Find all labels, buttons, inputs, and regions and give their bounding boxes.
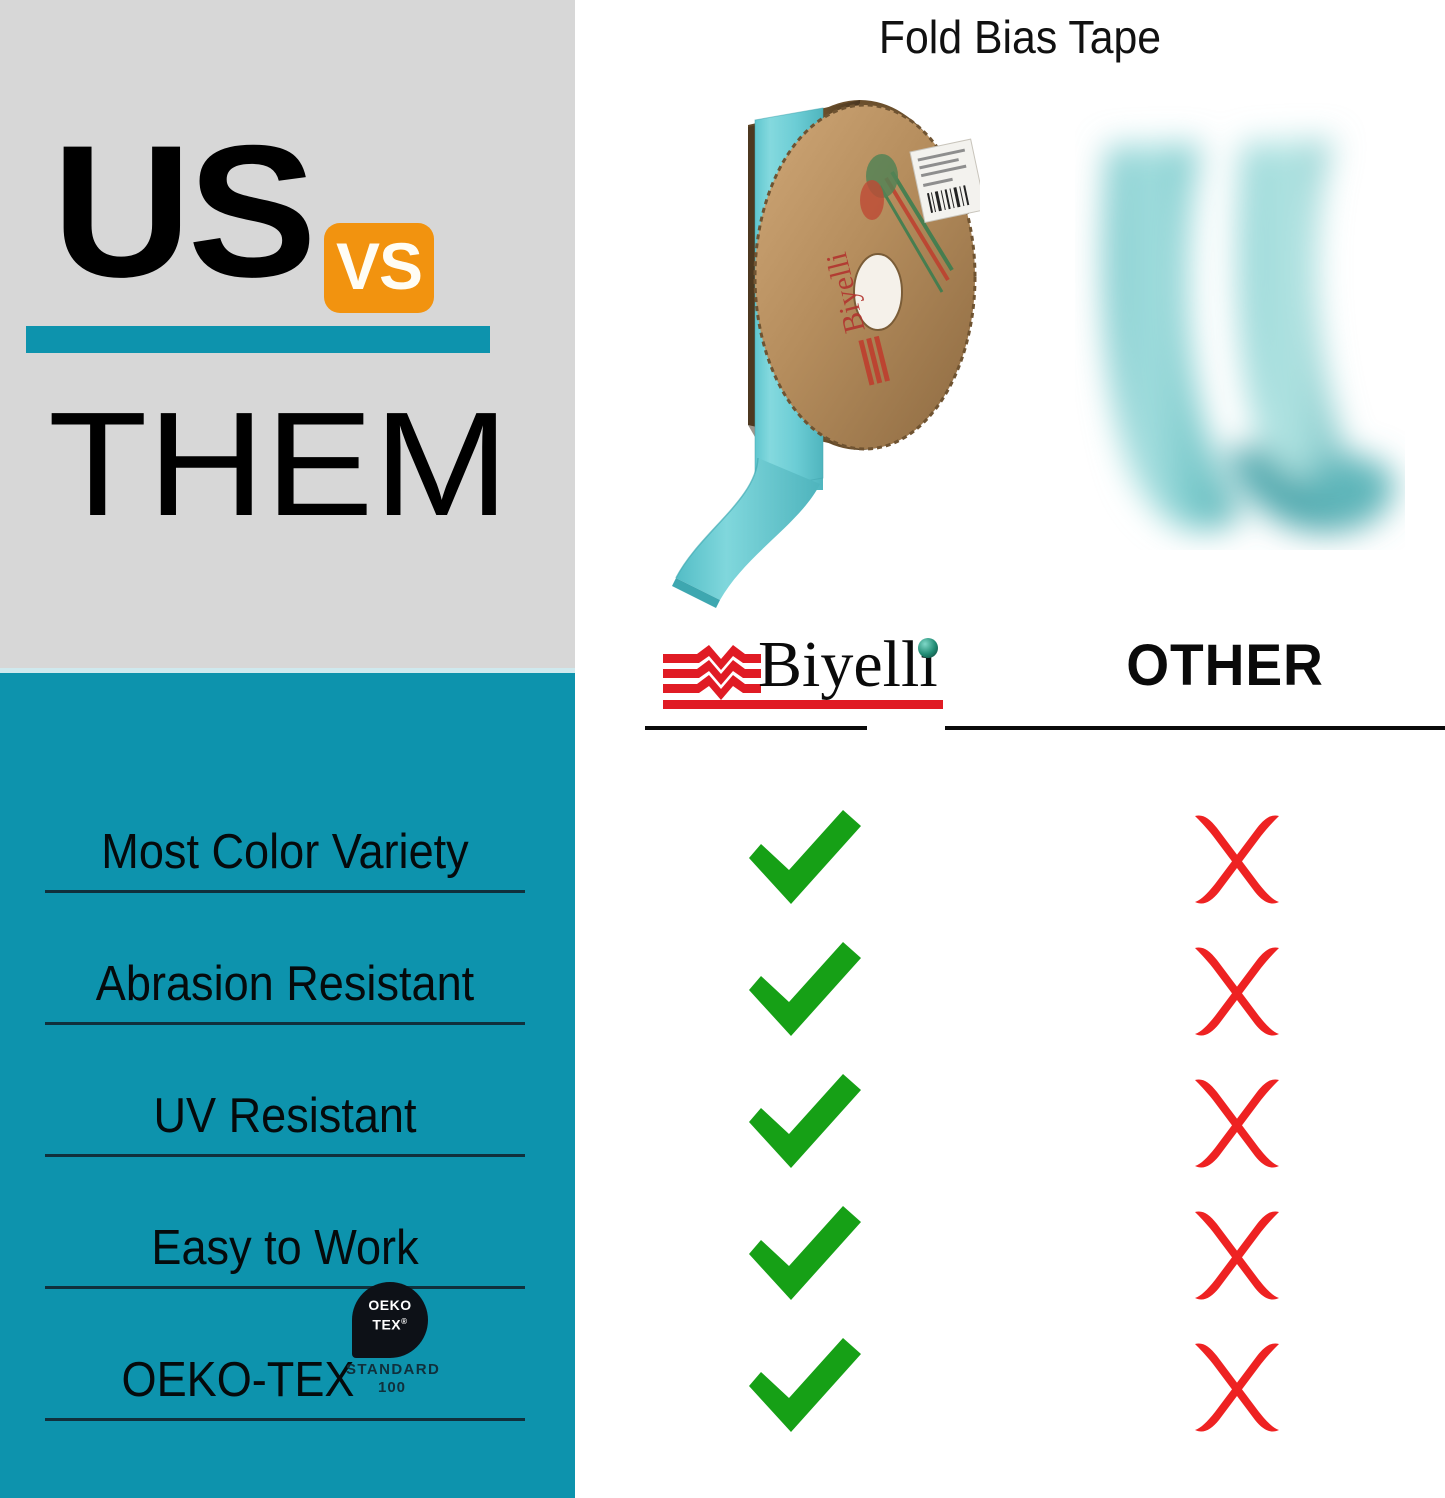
- oeko-badge-line2: TEX®: [352, 1314, 428, 1333]
- red-cross-icon: [1187, 944, 1287, 1038]
- feature-divider: [45, 1022, 525, 1025]
- red-cross-icon: [1187, 1340, 1287, 1434]
- green-check-icon: [745, 1336, 865, 1436]
- us-heading: US: [52, 122, 313, 300]
- biyelli-wordmark: Biyelli: [758, 632, 938, 698]
- teal-bias-tape-spool-image: Biyelli: [660, 80, 980, 610]
- feature-divider: [45, 1154, 525, 1157]
- feature-divider: [45, 1286, 525, 1289]
- feature-row: UV Resistant: [0, 1064, 575, 1196]
- page-title: Fold Bias Tape: [825, 12, 1216, 62]
- feature-label: UV Resistant: [64, 1092, 506, 1141]
- brand-label-row: Biyelli OTHER: [575, 630, 1445, 735]
- feature-label-list: Most Color Variety Abrasion Resistant UV…: [0, 800, 575, 1460]
- green-check-icon: [745, 1072, 865, 1172]
- feature-label: Abrasion Resistant: [64, 960, 506, 1009]
- other-brand-label: OTHER: [1016, 630, 1434, 702]
- oeko-badge-standard: STANDARD: [346, 1362, 438, 1378]
- product-them-illustration: [1075, 100, 1405, 550]
- red-cross-icon: [1187, 1076, 1287, 1170]
- feature-divider: [45, 890, 525, 893]
- mark-row: [575, 1328, 1445, 1460]
- oeko-badge-line2-text: TEX: [372, 1317, 401, 1333]
- mark-row: [575, 1196, 1445, 1328]
- comparison-marks-grid: [575, 800, 1445, 1460]
- red-cross-icon: [1187, 812, 1287, 906]
- oeko-tex-droplet-icon: OEKO TEX® STANDARD 100: [352, 1282, 448, 1394]
- feature-row: Abrasion Resistant: [0, 932, 575, 1064]
- mark-row: [575, 1064, 1445, 1196]
- vs-badge: VS: [324, 223, 434, 313]
- comparison-left-panel: US VS THEM Most Color Variety Abrasion R…: [0, 0, 575, 1498]
- product-us-illustration: Biyelli: [660, 80, 980, 610]
- comparison-right-panel: Fold Bias Tape: [575, 0, 1445, 1498]
- oeko-badge-number: 100: [346, 1380, 438, 1396]
- red-cross-icon: [1187, 1208, 1287, 1302]
- other-column-rule: [945, 726, 1445, 730]
- us-heading-group: US VS: [52, 128, 522, 313]
- feature-row: OEKO-TEX: [0, 1328, 575, 1460]
- mark-row: [575, 800, 1445, 932]
- green-check-icon: [745, 808, 865, 908]
- feature-divider: [45, 1418, 525, 1421]
- biyelli-registered-dot-icon: [918, 638, 938, 658]
- them-heading: THEM: [48, 398, 565, 532]
- feature-label: Most Color Variety: [64, 828, 506, 877]
- mark-row: [575, 932, 1445, 1064]
- us-them-separator-bar: [26, 326, 490, 353]
- oeko-badge-registered: ®: [401, 1317, 407, 1326]
- feature-label: Easy to Work: [64, 1224, 506, 1273]
- biyelli-wave-logo: Biyelli: [663, 638, 953, 716]
- vs-badge-label: VS: [336, 233, 422, 299]
- green-check-icon: [745, 1204, 865, 1304]
- feature-row: Most Color Variety: [0, 800, 575, 932]
- biyelli-column-rule: [645, 726, 867, 730]
- oeko-badge-line1: OEKO: [352, 1298, 428, 1313]
- oeko-tex-droplet-shape: OEKO TEX®: [352, 1282, 428, 1358]
- green-check-icon: [745, 940, 865, 1040]
- biyelli-underline-wave: [663, 700, 943, 709]
- feature-row: Easy to Work: [0, 1196, 575, 1328]
- blurred-teal-ribbon-image: [1075, 100, 1405, 550]
